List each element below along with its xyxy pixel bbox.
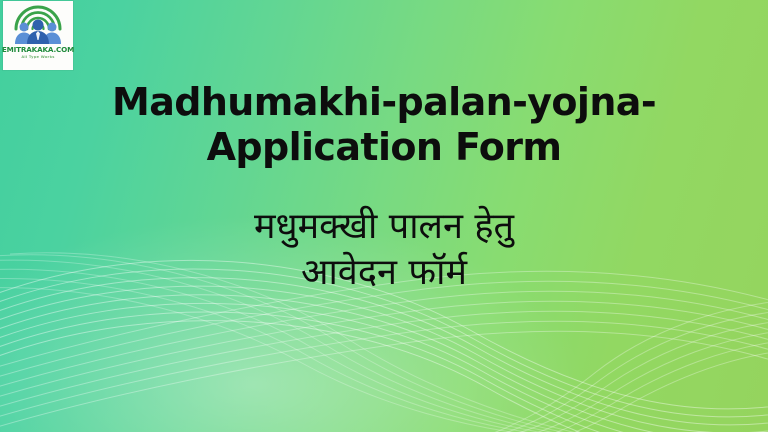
page-title-hindi-line-2: आवेदन फॉर्म [104, 250, 664, 297]
page-title-english: Madhumakhi-palan-yojna-Application Form [84, 80, 684, 170]
page-title-hindi-line-1: मधुमक्खी पालन हेतु [104, 204, 664, 251]
banner-content: Madhumakhi-palan-yojna-Application Form … [0, 0, 768, 432]
banner: EMITRAKAKA.COM All Type Works Madhumakhi… [0, 0, 768, 432]
page-title-hindi: मधुमक्खी पालन हेतु आवेदन फॉर्म [104, 204, 664, 298]
